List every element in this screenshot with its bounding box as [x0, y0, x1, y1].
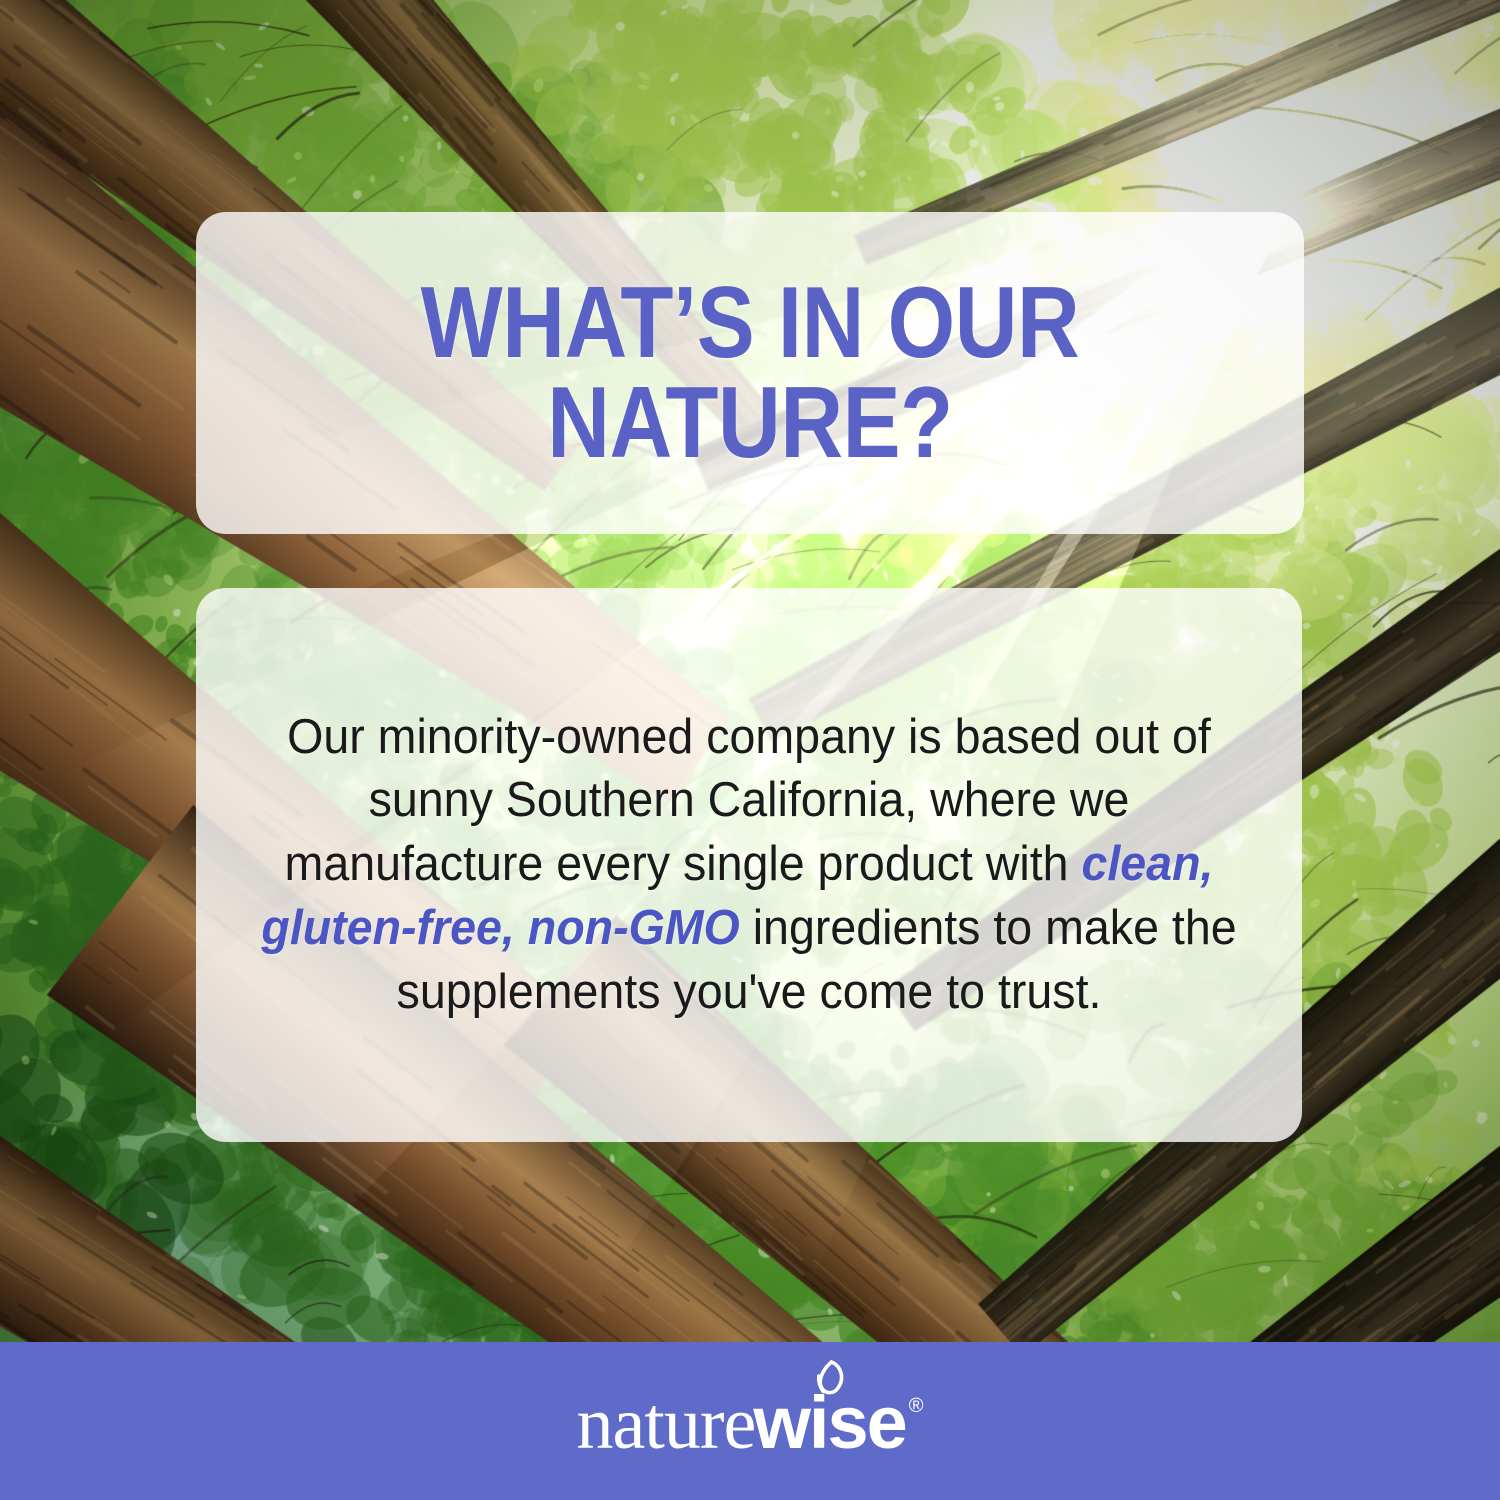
- heading-card: WHAT’S IN OUR NATURE?: [196, 212, 1304, 534]
- page-title: WHAT’S IN OUR NATURE?: [274, 273, 1227, 473]
- naturewise-logo: nature wise ®: [576, 1386, 923, 1461]
- registered-trademark-symbol: ®: [909, 1396, 924, 1416]
- body-card: Our minority-owned company is based out …: [196, 588, 1302, 1142]
- marketing-poster: WHAT’S IN OUR NATURE? Our minority-owned…: [0, 0, 1500, 1500]
- footer-bar: nature wise ®: [0, 1342, 1500, 1500]
- body-paragraph: Our minority-owned company is based out …: [260, 706, 1239, 1024]
- leaf-icon: [814, 1360, 848, 1400]
- body-run-0: Our minority-owned company is based out …: [285, 710, 1211, 891]
- logo-text-nature: nature: [576, 1387, 755, 1461]
